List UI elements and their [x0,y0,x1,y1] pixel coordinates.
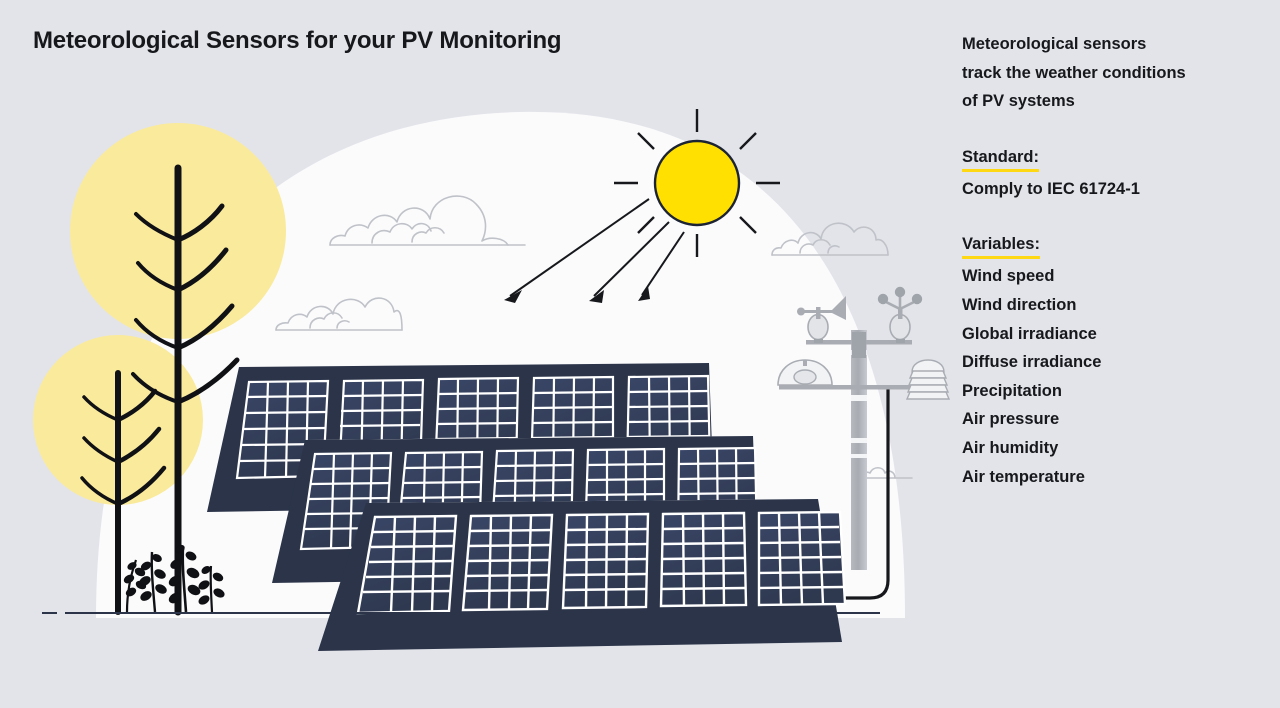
list-item: Air temperature [962,463,1262,492]
standard-heading: Standard: [962,143,1262,175]
list-item: Wind direction [962,291,1262,320]
station-mast [851,330,867,570]
info-panel: Meteorological sensors track the weather… [962,30,1262,491]
variables-label: Variables: [962,233,1040,259]
intro-line-2: track the weather conditions [962,59,1262,88]
intro-line-3: of PV systems [962,87,1262,116]
intro-line-1: Meteorological sensors [962,30,1262,59]
spacer-1 [962,116,1262,143]
radiation-shield-icon [907,360,949,399]
list-item: Air pressure [962,405,1262,434]
standard-value: Comply to IEC 61724-1 [962,175,1262,204]
list-item: Air humidity [962,434,1262,463]
spacer-2 [962,203,1262,230]
list-item: Wind speed [962,262,1262,291]
sun-icon [655,141,739,225]
list-item: Precipitation [962,377,1262,406]
variables-heading: Variables: [962,230,1262,262]
illustration-slide: Meteorological Sensors for your PV Monit… [0,0,1280,708]
list-item: Diffuse irradiance [962,348,1262,377]
list-item: Global irradiance [962,320,1262,349]
standard-label: Standard: [962,146,1039,172]
variables-list: Wind speed Wind direction Global irradia… [962,262,1262,491]
page-title: Meteorological Sensors for your PV Monit… [33,27,561,55]
solar-panel-array-front [318,499,845,651]
